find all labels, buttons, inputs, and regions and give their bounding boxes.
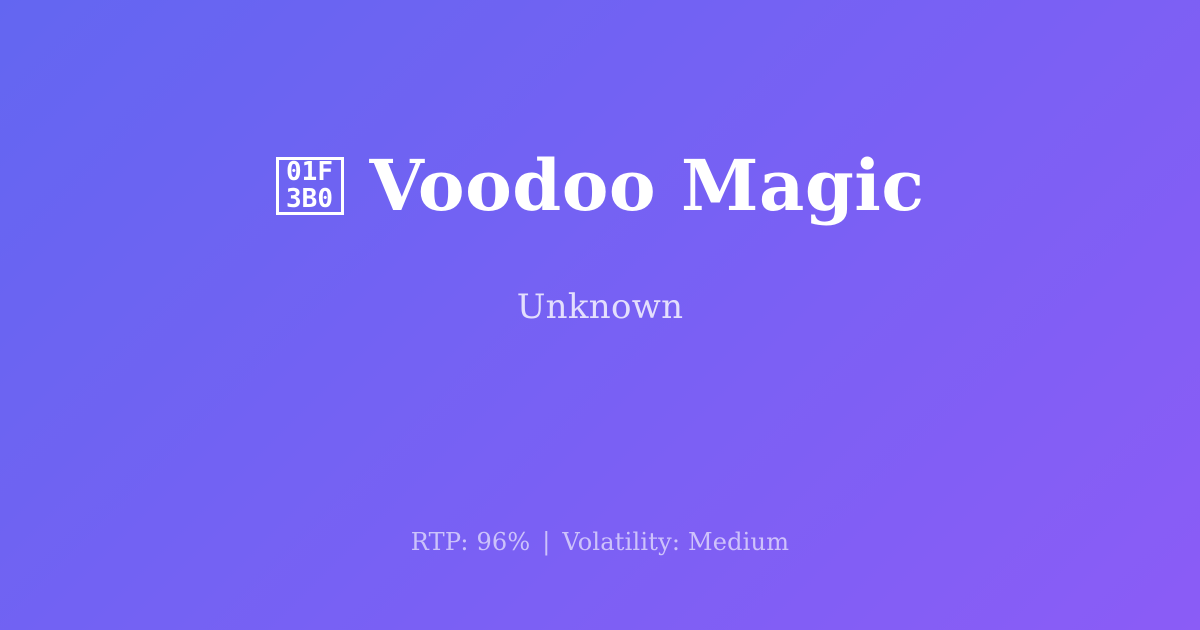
card-footer-meta: RTP: 96% | Volatility: Medium [0,528,1200,556]
slot-machine-icon: 01F 3B0 [276,157,344,215]
card-subtitle: Unknown [517,287,684,327]
tofu-codepoint-lower: 3B0 [286,186,333,213]
title-row: 01F 3B0 Voodoo Magic [276,151,925,221]
card-main-content: 01F 3B0 Voodoo Magic Unknown [0,0,1200,478]
og-card-page: { "card": { "background": { "gradient_fr… [0,0,1200,630]
rtp-label: RTP: 96% [411,528,531,556]
page-title: Voodoo Magic [370,151,925,221]
footer-separator: | [538,528,554,556]
volatility-label: Volatility: Medium [562,528,789,556]
tofu-codepoint-upper: 01F [286,159,333,186]
